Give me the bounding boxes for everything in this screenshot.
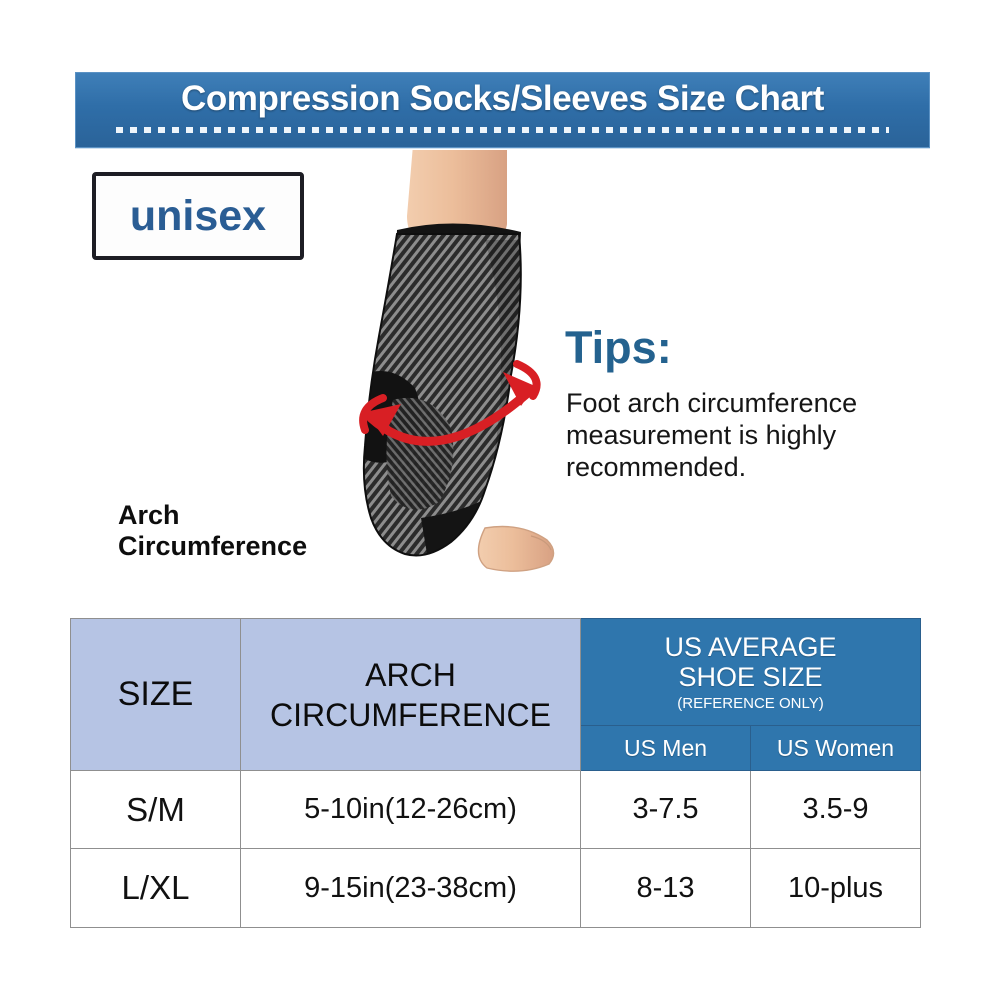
row-1-us-men: 8-13	[581, 849, 751, 928]
row-0-us-men: 3-7.5	[581, 771, 751, 849]
arch-circumference-callout: Arch Circumference	[118, 500, 307, 562]
header-us-women: US Women	[751, 726, 921, 771]
header-us-avg-note: (REFERENCE ONLY)	[581, 695, 920, 712]
table-row: L/XL 9-15in(23-38cm) 8-13 10-plus	[71, 849, 921, 928]
header-us-average-shoe-size: US AVERAGE SHOE SIZE (REFERENCE ONLY)	[581, 619, 921, 726]
compression-sleeve-illustration	[335, 150, 595, 605]
header-banner: Compression Socks/Sleeves Size Chart	[75, 72, 930, 148]
size-chart-table: SIZE ARCH CIRCUMFERENCE US AVERAGE SHOE …	[70, 618, 921, 928]
row-0-size: S/M	[71, 771, 241, 849]
size-chart-page: { "banner": { "title": "Compression Sock…	[0, 0, 1000, 1000]
row-1-us-women: 10-plus	[751, 849, 921, 928]
unisex-badge: unisex	[92, 172, 304, 260]
tips-body-text: Foot arch circumference measurement is h…	[566, 388, 958, 484]
unisex-badge-label: unisex	[130, 195, 266, 238]
row-1-size: L/XL	[71, 849, 241, 928]
tips-heading: Tips:	[565, 325, 672, 370]
table-header-row-top: SIZE ARCH CIRCUMFERENCE US AVERAGE SHOE …	[71, 619, 921, 726]
header-us-avg-line1: US AVERAGE	[581, 632, 920, 662]
header-us-avg-line2: SHOE SIZE	[581, 662, 920, 692]
header-size: SIZE	[71, 619, 241, 771]
arch-callout-line2: Circumference	[118, 531, 307, 562]
arch-callout-line1: Arch	[118, 500, 307, 531]
product-photo	[335, 150, 595, 605]
toes	[478, 527, 553, 572]
header-arch-line1: ARCH	[241, 655, 580, 695]
row-0-us-women: 3.5-9	[751, 771, 921, 849]
page-title: Compression Socks/Sleeves Size Chart	[76, 79, 929, 119]
table-row: S/M 5-10in(12-26cm) 3-7.5 3.5-9	[71, 771, 921, 849]
header-arch-circumference: ARCH CIRCUMFERENCE	[241, 619, 581, 771]
row-1-arch: 9-15in(23-38cm)	[241, 849, 581, 928]
banner-dotted-divider	[116, 127, 889, 133]
header-arch-line2: CIRCUMFERENCE	[241, 695, 580, 735]
header-us-men: US Men	[581, 726, 751, 771]
row-0-arch: 5-10in(12-26cm)	[241, 771, 581, 849]
